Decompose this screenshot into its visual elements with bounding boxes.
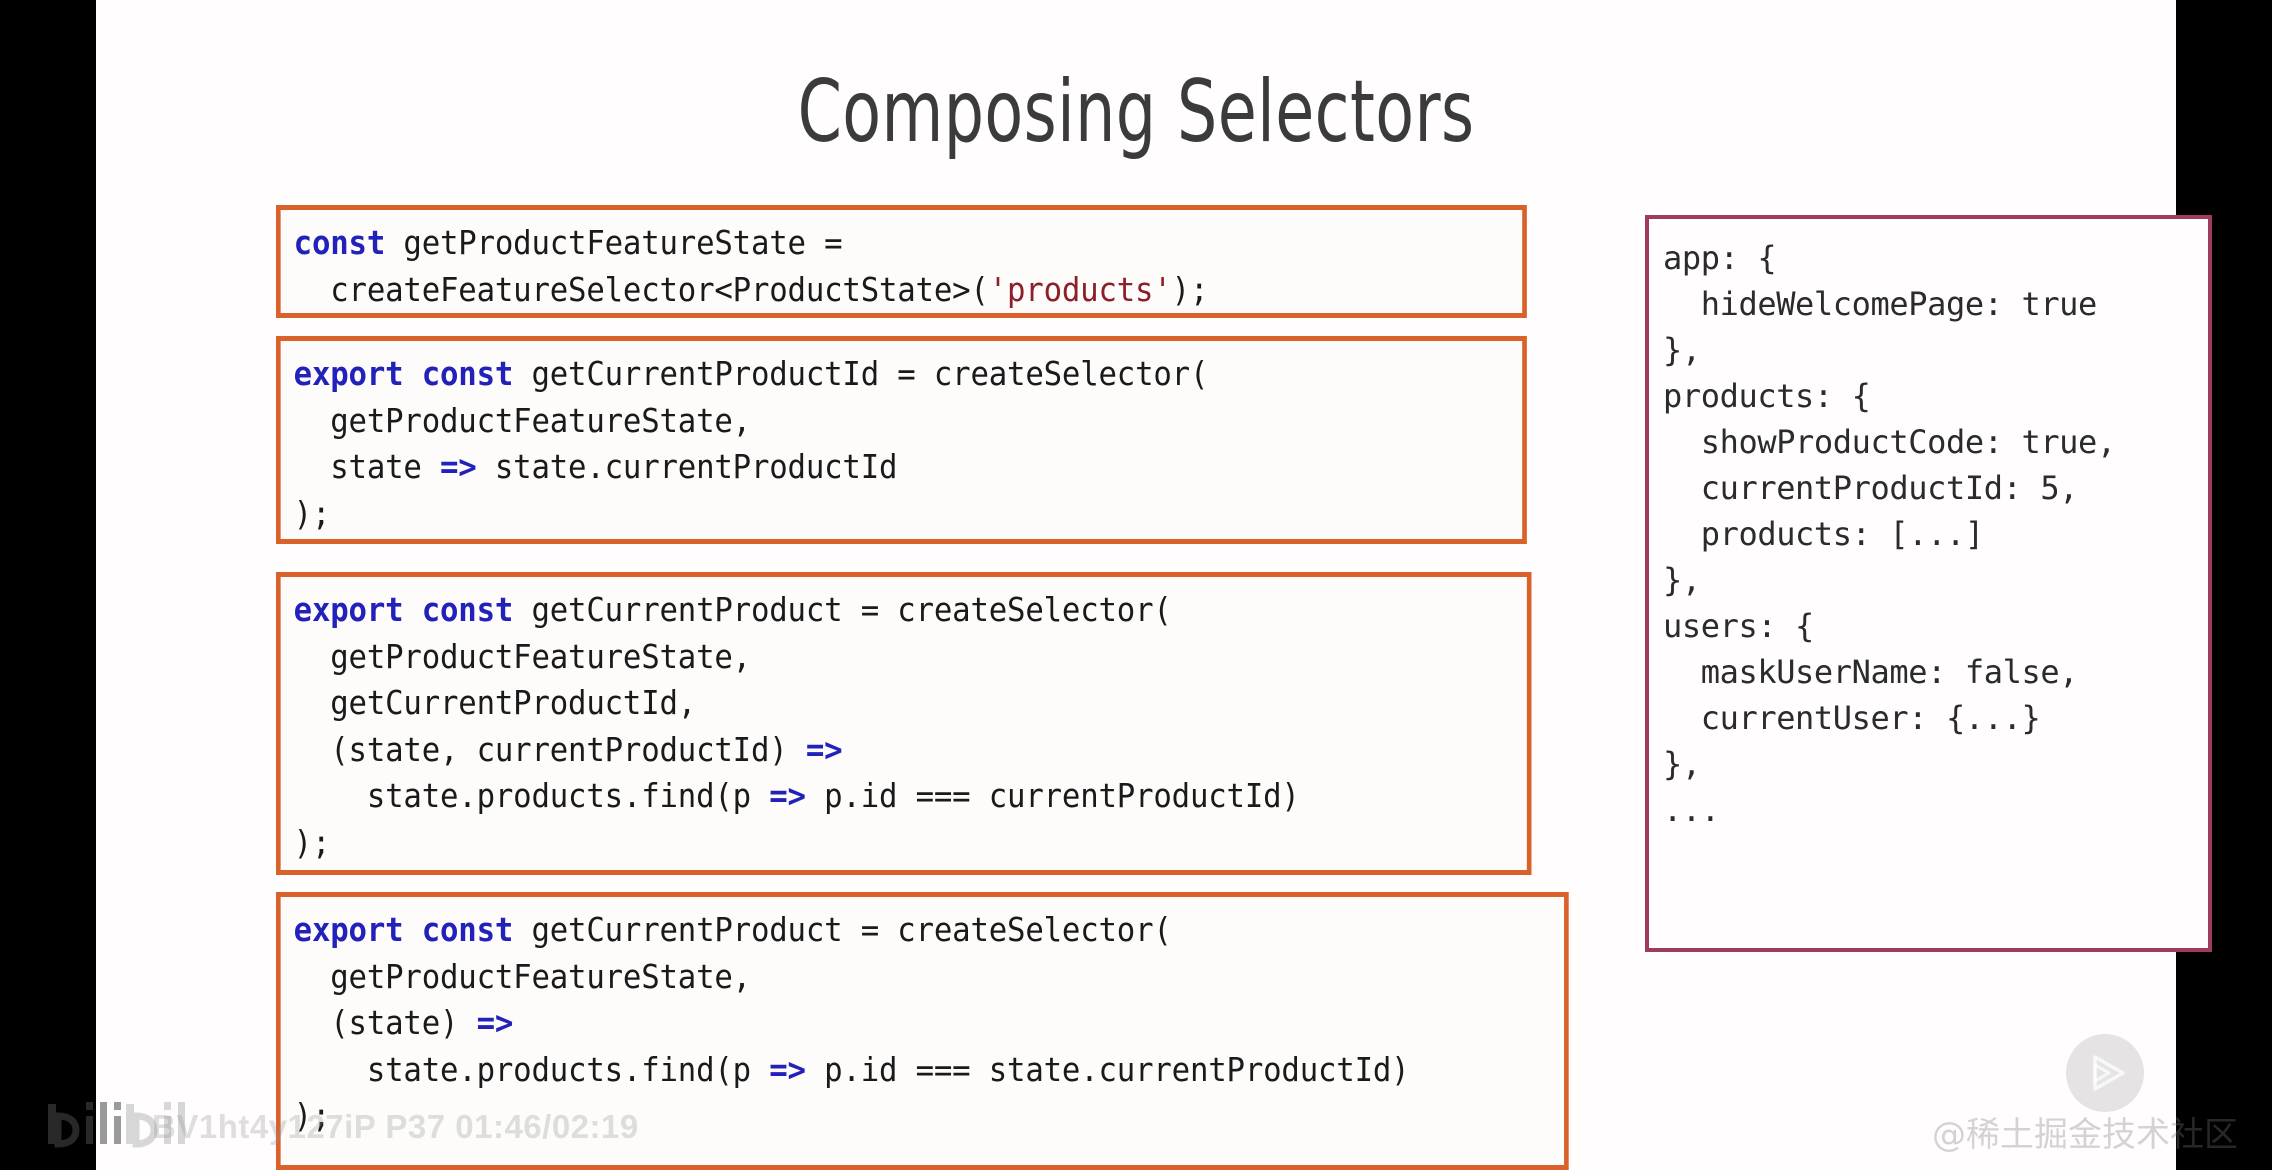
video-info-overlay: BV1ht4y127iP P37 01:46/02:19 bbox=[152, 1108, 639, 1146]
play-button-watermark-icon bbox=[2066, 1034, 2144, 1112]
code-block-1: const getProductFeatureState = createFea… bbox=[276, 205, 1527, 318]
code-block-3: export const getCurrentProduct = createS… bbox=[276, 572, 1532, 875]
video-frame: Composing Selectors const getProductFeat… bbox=[0, 0, 2272, 1170]
page-title: Composing Selectors bbox=[283, 62, 1989, 162]
community-watermark: @稀土掘金技术社区 bbox=[1932, 1107, 2238, 1156]
app-state-panel: app: { hideWelcomePage: true }, products… bbox=[1645, 215, 2212, 952]
play-triangle-icon bbox=[2079, 1047, 2131, 1099]
code-block-2: export const getCurrentProductId = creat… bbox=[276, 336, 1527, 544]
presentation-slide: Composing Selectors const getProductFeat… bbox=[96, 0, 2176, 1170]
